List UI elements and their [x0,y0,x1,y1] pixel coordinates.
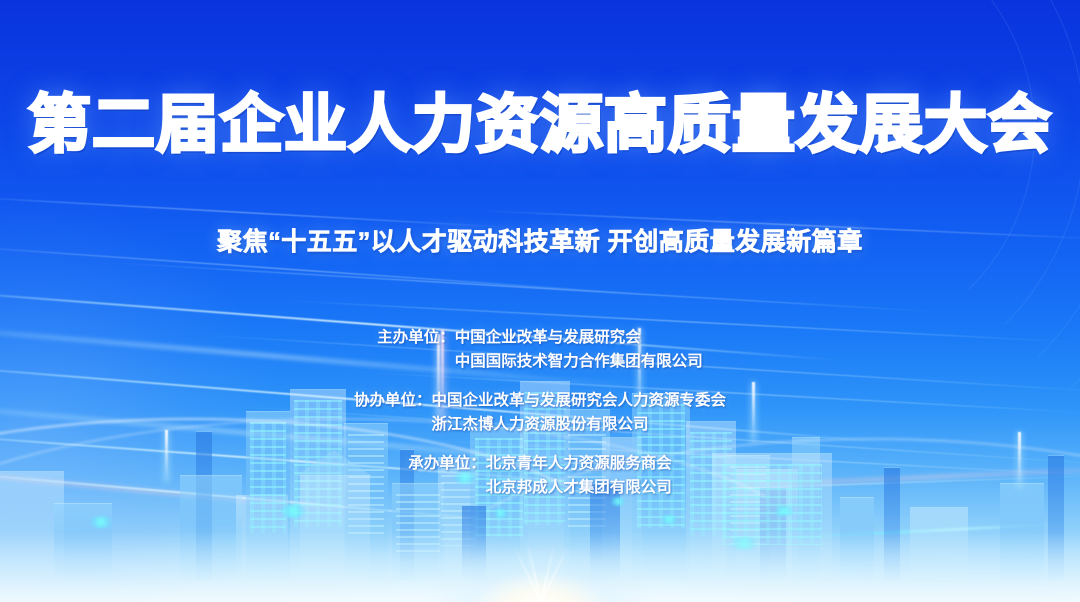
organizer-host-line1: 主办单位：中国企业改革与发展研究会 [377,326,641,350]
organizer-undertaker-line1: 承办单位：北京青年人力资源服务商会 [408,452,672,476]
poster-title: 第二届企业人力资源高质量发展大会 [28,93,1052,157]
organizer-coorganizer-line1: 协办单位：中国企业改革与发展研究会人力资源专委会 [354,389,726,413]
organizer-host-line2: 中国国际技术智力合作集团有限公司 [377,350,703,374]
poster-canvas: 第二届企业人力资源高质量发展大会 聚焦“十五五”以人才驱动科技革新 开创高质量发… [0,0,1080,602]
organizer-list: 主办单位：中国企业改革与发展研究会 中国国际技术智力合作集团有限公司 协办单位：… [354,326,726,499]
poster-content: 第二届企业人力资源高质量发展大会 聚焦“十五五”以人才驱动科技革新 开创高质量发… [0,0,1080,602]
organizer-block-undertaker: 承办单位：北京青年人力资源服务商会 北京邦成人才集团有限公司 [408,452,672,499]
organizer-undertaker-line2: 北京邦成人才集团有限公司 [408,476,672,500]
organizer-coorganizer-line2: 浙江杰博人力资源股份有限公司 [354,413,649,437]
poster-subtitle: 聚焦“十五五”以人才驱动科技革新 开创高质量发展新篇章 [217,222,862,258]
organizer-block-coorganizer: 协办单位：中国企业改革与发展研究会人力资源专委会 浙江杰博人力资源股份有限公司 [354,389,726,436]
organizer-block-host: 主办单位：中国企业改革与发展研究会 中国国际技术智力合作集团有限公司 [377,326,703,373]
